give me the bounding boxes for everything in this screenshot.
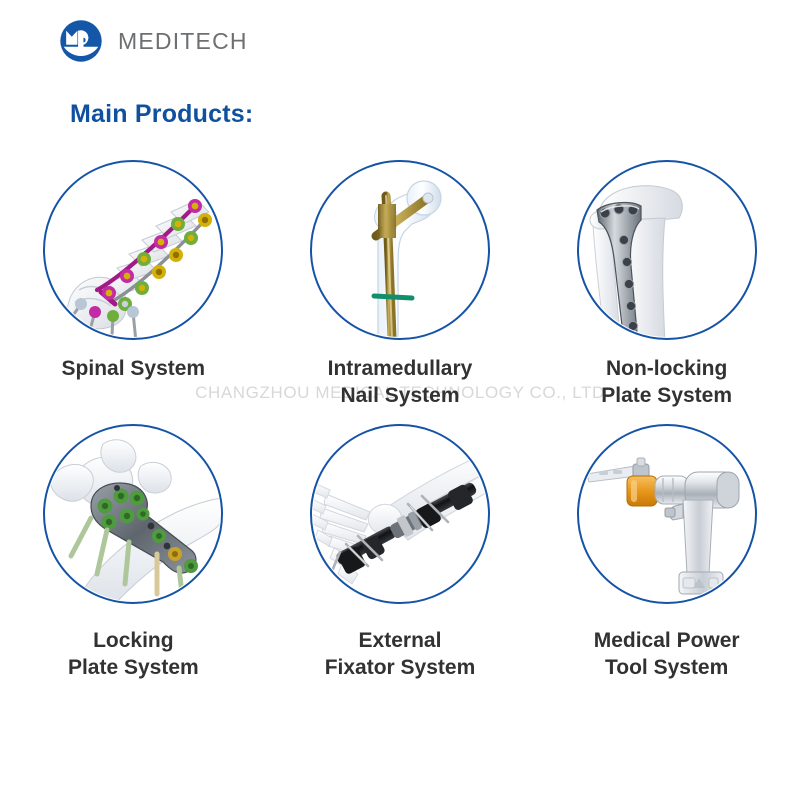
- product-label: Spinal System: [62, 356, 206, 383]
- product-card-medical-power-tool-system[interactable]: Medical Power Tool System: [533, 424, 800, 682]
- product-card-external-fixator-system[interactable]: External Fixator System: [267, 424, 534, 682]
- product-image-non-locking-plate-system: [577, 160, 757, 340]
- product-label: Medical Power Tool System: [594, 628, 740, 682]
- medical-power-tool-illustration: [579, 426, 755, 602]
- brand-name: MEDITECH: [118, 28, 248, 55]
- product-card-non-locking-plate-system[interactable]: Non-locking Plate System: [533, 160, 800, 410]
- external-fixator-illustration: [312, 426, 488, 602]
- product-image-intramedullary-nail-system: [310, 160, 490, 340]
- product-card-locking-plate-system[interactable]: Locking Plate System: [0, 424, 267, 682]
- product-label: Intramedullary Nail System: [328, 356, 473, 410]
- non-locking-plate-illustration: [579, 162, 755, 338]
- product-image-medical-power-tool-system: [577, 424, 757, 604]
- product-label: Locking Plate System: [68, 628, 199, 682]
- intramedullary-nail-illustration: [312, 162, 488, 338]
- product-card-intramedullary-nail-system[interactable]: Intramedullary Nail System: [267, 160, 534, 410]
- brand-header: MEDITECH: [58, 18, 248, 64]
- product-image-external-fixator-system: [310, 424, 490, 604]
- product-label: Non-locking Plate System: [601, 356, 732, 410]
- product-image-locking-plate-system: [43, 424, 223, 604]
- spinal-system-illustration: [45, 162, 221, 338]
- page-title: Main Products:: [70, 100, 253, 129]
- locking-plate-illustration: [45, 426, 221, 602]
- product-image-spinal-system: [43, 160, 223, 340]
- meditech-logo-icon: [58, 18, 104, 64]
- product-grid: Spinal System: [0, 160, 800, 682]
- product-card-spinal-system[interactable]: Spinal System: [0, 160, 267, 410]
- product-label: External Fixator System: [325, 628, 476, 682]
